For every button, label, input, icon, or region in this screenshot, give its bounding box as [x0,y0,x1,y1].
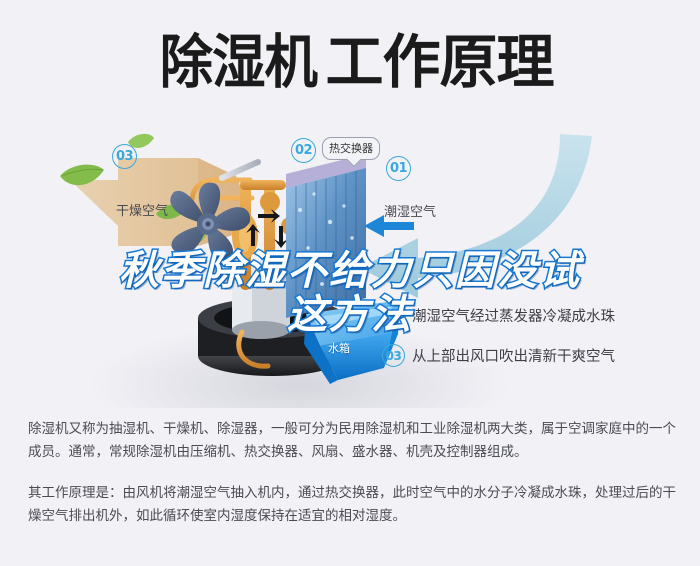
badge-03-dry-air: 03 [112,144,137,169]
page-root: 除湿机工作原理 [0,0,700,566]
legend-badge-02: 02 [382,304,405,327]
page-title: 除湿机工作原理 [0,28,700,96]
evaporator-coil [286,154,366,318]
badge-01-humid-air: 01 [386,156,411,181]
label-water-tank: 水箱 [328,340,350,356]
dehumidifier-diagram: 03 干燥空气 02 热交换器 01 潮湿空气 水箱 02 潮湿空气经过蒸发器冷… [0,118,700,408]
badge-02-heat-exchanger: 02 [291,138,316,163]
label-humid-air: 潮湿空气 [384,201,436,220]
legend-text-03: 从上部出风口吹出清新干爽空气 [412,345,615,366]
article-body: 除湿机又称为抽湿机、干燥机、除湿器，一般可分为民用除湿机和工业除湿机两大类，属于… [28,418,676,528]
legend-row-03: 03 从上部出风口吹出清新干爽空气 [382,344,615,367]
legend-row-02: 02 潮湿空气经过蒸发器冷凝成水珠 [382,304,615,327]
body-paragraph-2: 其工作原理是：由风机将潮湿空气抽入机内，通过热交换器，此时空气中的水分子冷凝成水… [28,482,676,528]
legend-text-02: 潮湿空气经过蒸发器冷凝成水珠 [412,305,615,326]
page-title-part1: 除湿机 [160,28,317,96]
callout-heat-exchanger: 热交换器 [322,137,380,160]
label-dry-air: 干燥空气 [116,200,168,219]
legend-badge-03: 03 [382,344,405,367]
body-paragraph-1: 除湿机又称为抽湿机、干燥机、除湿器，一般可分为民用除湿机和工业除湿机两大类，属于… [28,418,676,464]
page-title-part2: 工作原理 [326,28,554,96]
